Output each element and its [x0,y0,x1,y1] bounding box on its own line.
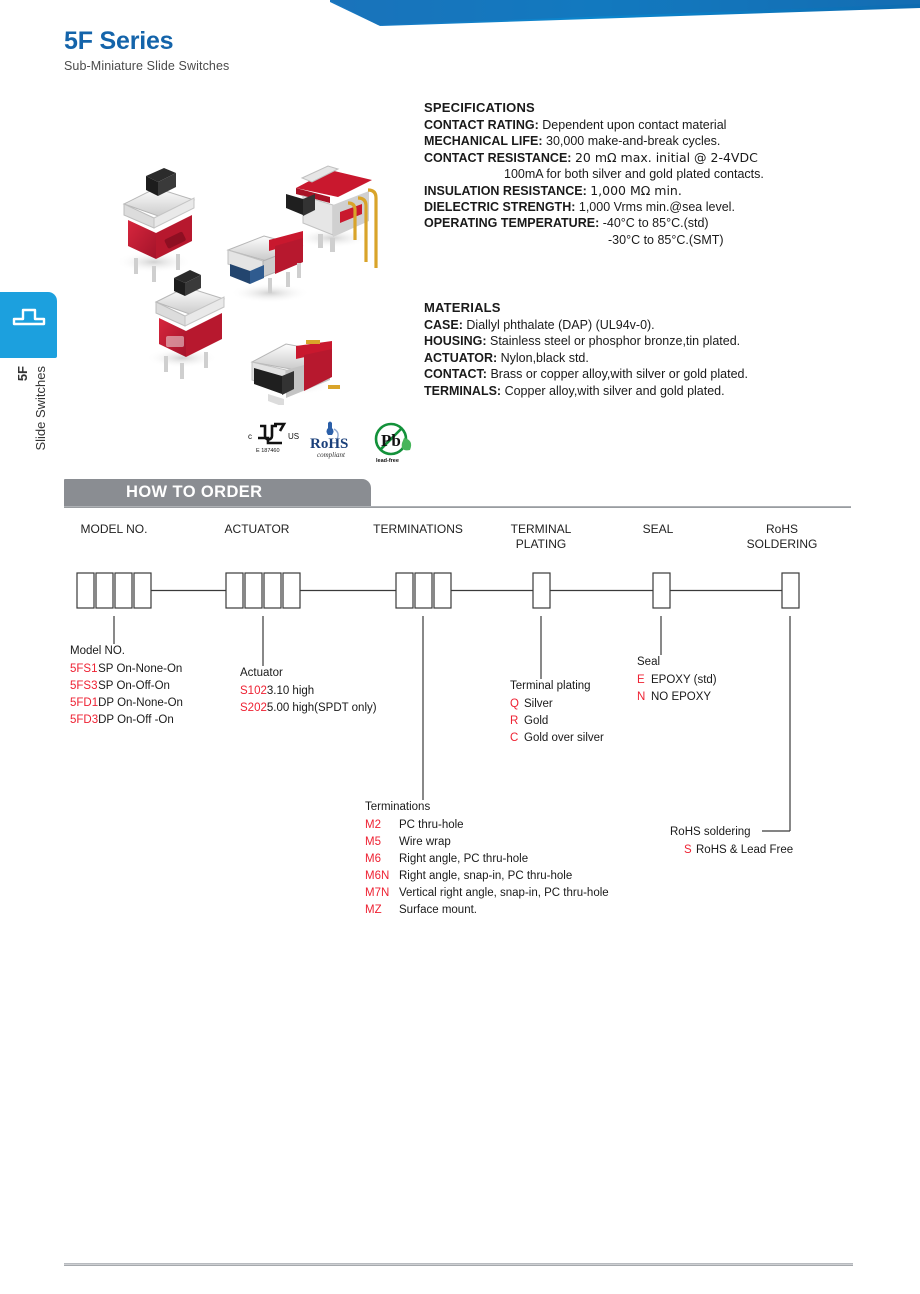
ul-file-number: E 187460 [256,448,280,454]
sidebar-category-label: Slide Switches [33,366,48,451]
materials-section: MATERIALS CASE: Diallyl phthalate (DAP) … [424,300,904,399]
legend-code: M2 [365,817,399,834]
legend-code: M5 [365,834,399,851]
legend-terminations: Terminations M2PC thru-hole M5Wire wrap … [365,799,609,919]
legend-code: R [510,713,524,730]
material-label: ACTUATOR: [424,351,497,365]
spec-row: MECHANICAL LIFE: 30,000 make-and-break c… [424,133,904,149]
column-header-seal: SEAL [608,522,708,537]
legend-desc: Wire wrap [399,834,609,851]
legend-row: RGold [510,713,604,730]
how-to-order-rule [64,506,851,508]
legend-desc: DP On-None-On [98,695,183,712]
spec-value: 30,000 make-and-break cycles. [546,134,720,148]
rohs-compliant-icon: RoHS compliant [310,422,348,460]
spec-row: -30°C to 85°C.(SMT) [424,232,904,248]
series-title: 5F Series [64,28,229,56]
certification-logos: c US E 187460 RoHS compliant P [248,420,418,464]
svg-text:c: c [248,432,252,441]
material-value: Diallyl phthalate (DAP) (UL94v-0). [466,318,654,332]
legend-row: SRoHS & Lead Free [684,842,793,859]
spec-value: 1,000 MΩ min. [590,183,682,198]
legend-code: C [510,730,524,747]
material-value: Stainless steel or phosphor bronze,tin p… [490,334,740,348]
legend-code: 5FS1 [70,661,98,678]
legend-row: M6Right angle, PC thru-hole [365,851,609,868]
lead-free-icon: Pb lead-free [376,424,411,464]
legend-code: S202 [240,700,267,717]
legend-title: Terminal plating [510,678,604,695]
legend-actuator: Actuator S1023.10 high S2025.00 high(SPD… [240,665,377,717]
legend-row: QSilver [510,696,604,713]
legend-desc: Right angle, snap-in, PC thru-hole [399,868,609,885]
legend-desc: Silver [524,696,604,713]
material-value: Brass or copper alloy,with silver or gol… [490,367,748,381]
material-row: CONTACT: Brass or copper alloy,with silv… [424,366,904,382]
legend-desc: Surface mount. [399,902,609,919]
legend-row: 5FD1DP On-None-On [70,695,183,712]
how-to-order-tab: HOW TO ORDER [64,479,371,506]
footer-divider [64,1263,853,1266]
slide-switch-icon [12,308,46,332]
column-header-terminations: TERMINATIONS [348,522,488,537]
legend-desc: Right angle, PC thru-hole [399,851,609,868]
legend-row: CGold over silver [510,730,604,747]
spec-label: INSULATION RESISTANCE: [424,184,587,198]
spec-row: CONTACT RATING: Dependent upon contact m… [424,117,904,133]
legend-model-no: Model NO. 5FS1SP On-None-On 5FS3SP On-Of… [70,643,183,729]
legend-code: M6N [365,868,399,885]
legend-row: NNO EPOXY [637,689,717,706]
spec-row: CONTACT RESISTANCE: 20 mΩ max. initial @… [424,150,904,166]
legend-desc: 5.00 high(SPDT only) [267,700,377,717]
material-label: HOUSING: [424,334,487,348]
legend-code: S102 [240,683,267,700]
spec-row: INSULATION RESISTANCE: 1,000 MΩ min. [424,183,904,199]
legend-desc: PC thru-hole [399,817,609,834]
legend-terminal-plating: Terminal plating QSilver RGold CGold ove… [510,678,604,747]
material-row: CASE: Diallyl phthalate (DAP) (UL94v-0). [424,317,904,333]
legend-desc: RoHS & Lead Free [696,842,793,859]
legend-row: M6NRight angle, snap-in, PC thru-hole [365,868,609,885]
legend-row: 5FS1SP On-None-On [70,661,183,678]
legend-code: M6 [365,851,399,868]
svg-text:compliant: compliant [317,451,346,459]
how-to-order-label: HOW TO ORDER [126,483,263,502]
legend-row: EEPOXY (std) [637,672,717,689]
legend-desc: Vertical right angle, snap-in, PC thru-h… [399,885,609,902]
ul-recognized-icon: c US E 187460 [248,424,299,454]
spec-row: 100mA for both silver and gold plated co… [424,166,904,182]
spec-label: CONTACT RATING: [424,118,539,132]
svg-text:US: US [288,432,299,441]
material-label: CASE: [424,318,463,332]
material-label: TERMINALS: [424,384,501,398]
legend-desc: EPOXY (std) [651,672,717,689]
specifications-heading: SPECIFICATIONS [424,100,904,115]
product-photo-group [100,150,385,405]
spec-label: MECHANICAL LIFE: [424,134,543,148]
spec-label: CONTACT RESISTANCE: [424,151,571,165]
legend-code: S [684,842,696,859]
legend-code: 5FD1 [70,695,98,712]
legend-row: M7NVertical right angle, snap-in, PC thr… [365,885,609,902]
materials-heading: MATERIALS [424,300,904,315]
column-header-terminal-plating: TERMINAL PLATING [481,522,601,552]
legend-row: 5FD3DP On-Off -On [70,712,183,729]
material-label: CONTACT: [424,367,487,381]
legend-title: Actuator [240,665,377,682]
legend-code: 5FS3 [70,678,98,695]
legend-code: N [637,689,651,706]
legend-row: 5FS3SP On-Off-On [70,678,183,695]
material-value: Nylon,black std. [501,351,589,365]
legend-row: M2PC thru-hole [365,817,609,834]
material-row: TERMINALS: Copper alloy,with silver and … [424,383,904,399]
sidebar-series-label: 5F [15,366,30,381]
spec-label: DIELECTRIC STRENGTH: [424,200,575,214]
spec-value: 1,000 Vrms min.@sea level. [579,200,735,214]
legend-title: Seal [637,654,717,671]
top-banner-graphic [330,0,920,30]
column-header-actuator: ACTUATOR [192,522,322,537]
sidebar-series-tab[interactable] [0,292,57,358]
legend-desc: NO EPOXY [651,689,717,706]
legend-row: M5Wire wrap [365,834,609,851]
legend-row: S2025.00 high(SPDT only) [240,700,377,717]
product-photo-5 [252,340,340,405]
legend-desc: Gold over silver [524,730,604,747]
legend-code: MZ [365,902,399,919]
spec-value: 100mA for both silver and gold plated co… [504,167,764,181]
spec-row: OPERATING TEMPERATURE: -40°C to 85°C.(st… [424,215,904,231]
legend-title: Model NO. [70,643,183,660]
datasheet-page: 5F Series Sub-Miniature Slide Switches 5… [0,0,920,1294]
spec-value: 20 mΩ max. initial @ 2-4VDC [575,150,758,165]
legend-row: MZSurface mount. [365,902,609,919]
legend-row: S1023.10 high [240,683,377,700]
svg-text:RoHS: RoHS [310,436,348,452]
column-header-rohs-soldering: RoHS SOLDERING [722,522,842,552]
spec-value: -40°C to 85°C.(std) [603,216,709,230]
legend-desc: SP On-Off-On [98,678,183,695]
series-subtitle: Sub-Miniature Slide Switches [64,59,229,73]
material-row: HOUSING: Stainless steel or phosphor bro… [424,333,904,349]
legend-code: M7N [365,885,399,902]
legend-seal: Seal EEPOXY (std) NNO EPOXY [637,654,717,706]
legend-desc: SP On-None-On [98,661,183,678]
legend-title: Terminations [365,799,609,816]
legend-desc: Gold [524,713,604,730]
spec-value: -30°C to 85°C.(SMT) [608,233,724,247]
material-row: ACTUATOR: Nylon,black std. [424,350,904,366]
legend-desc: DP On-Off -On [98,712,183,729]
legend-rohs-soldering: RoHS soldering SRoHS & Lead Free [670,824,793,859]
legend-desc: 3.10 high [267,683,377,700]
spec-label: OPERATING TEMPERATURE: [424,216,599,230]
column-header-model-no: MODEL NO. [44,522,184,537]
svg-text:lead-free: lead-free [376,458,399,464]
spec-value: Dependent upon contact material [542,118,726,132]
spec-row: DIELECTRIC STRENGTH: 1,000 Vrms min.@sea… [424,199,904,215]
specifications-section: SPECIFICATIONS CONTACT RATING: Dependent… [424,100,904,248]
legend-code: 5FD3 [70,712,98,729]
material-value: Copper alloy,with silver and gold plated… [505,384,725,398]
legend-code: E [637,672,651,689]
legend-code: Q [510,696,524,713]
legend-title: RoHS soldering [670,824,793,841]
page-title: 5F Series Sub-Miniature Slide Switches [64,28,229,73]
svg-text:Pb: Pb [381,431,401,450]
